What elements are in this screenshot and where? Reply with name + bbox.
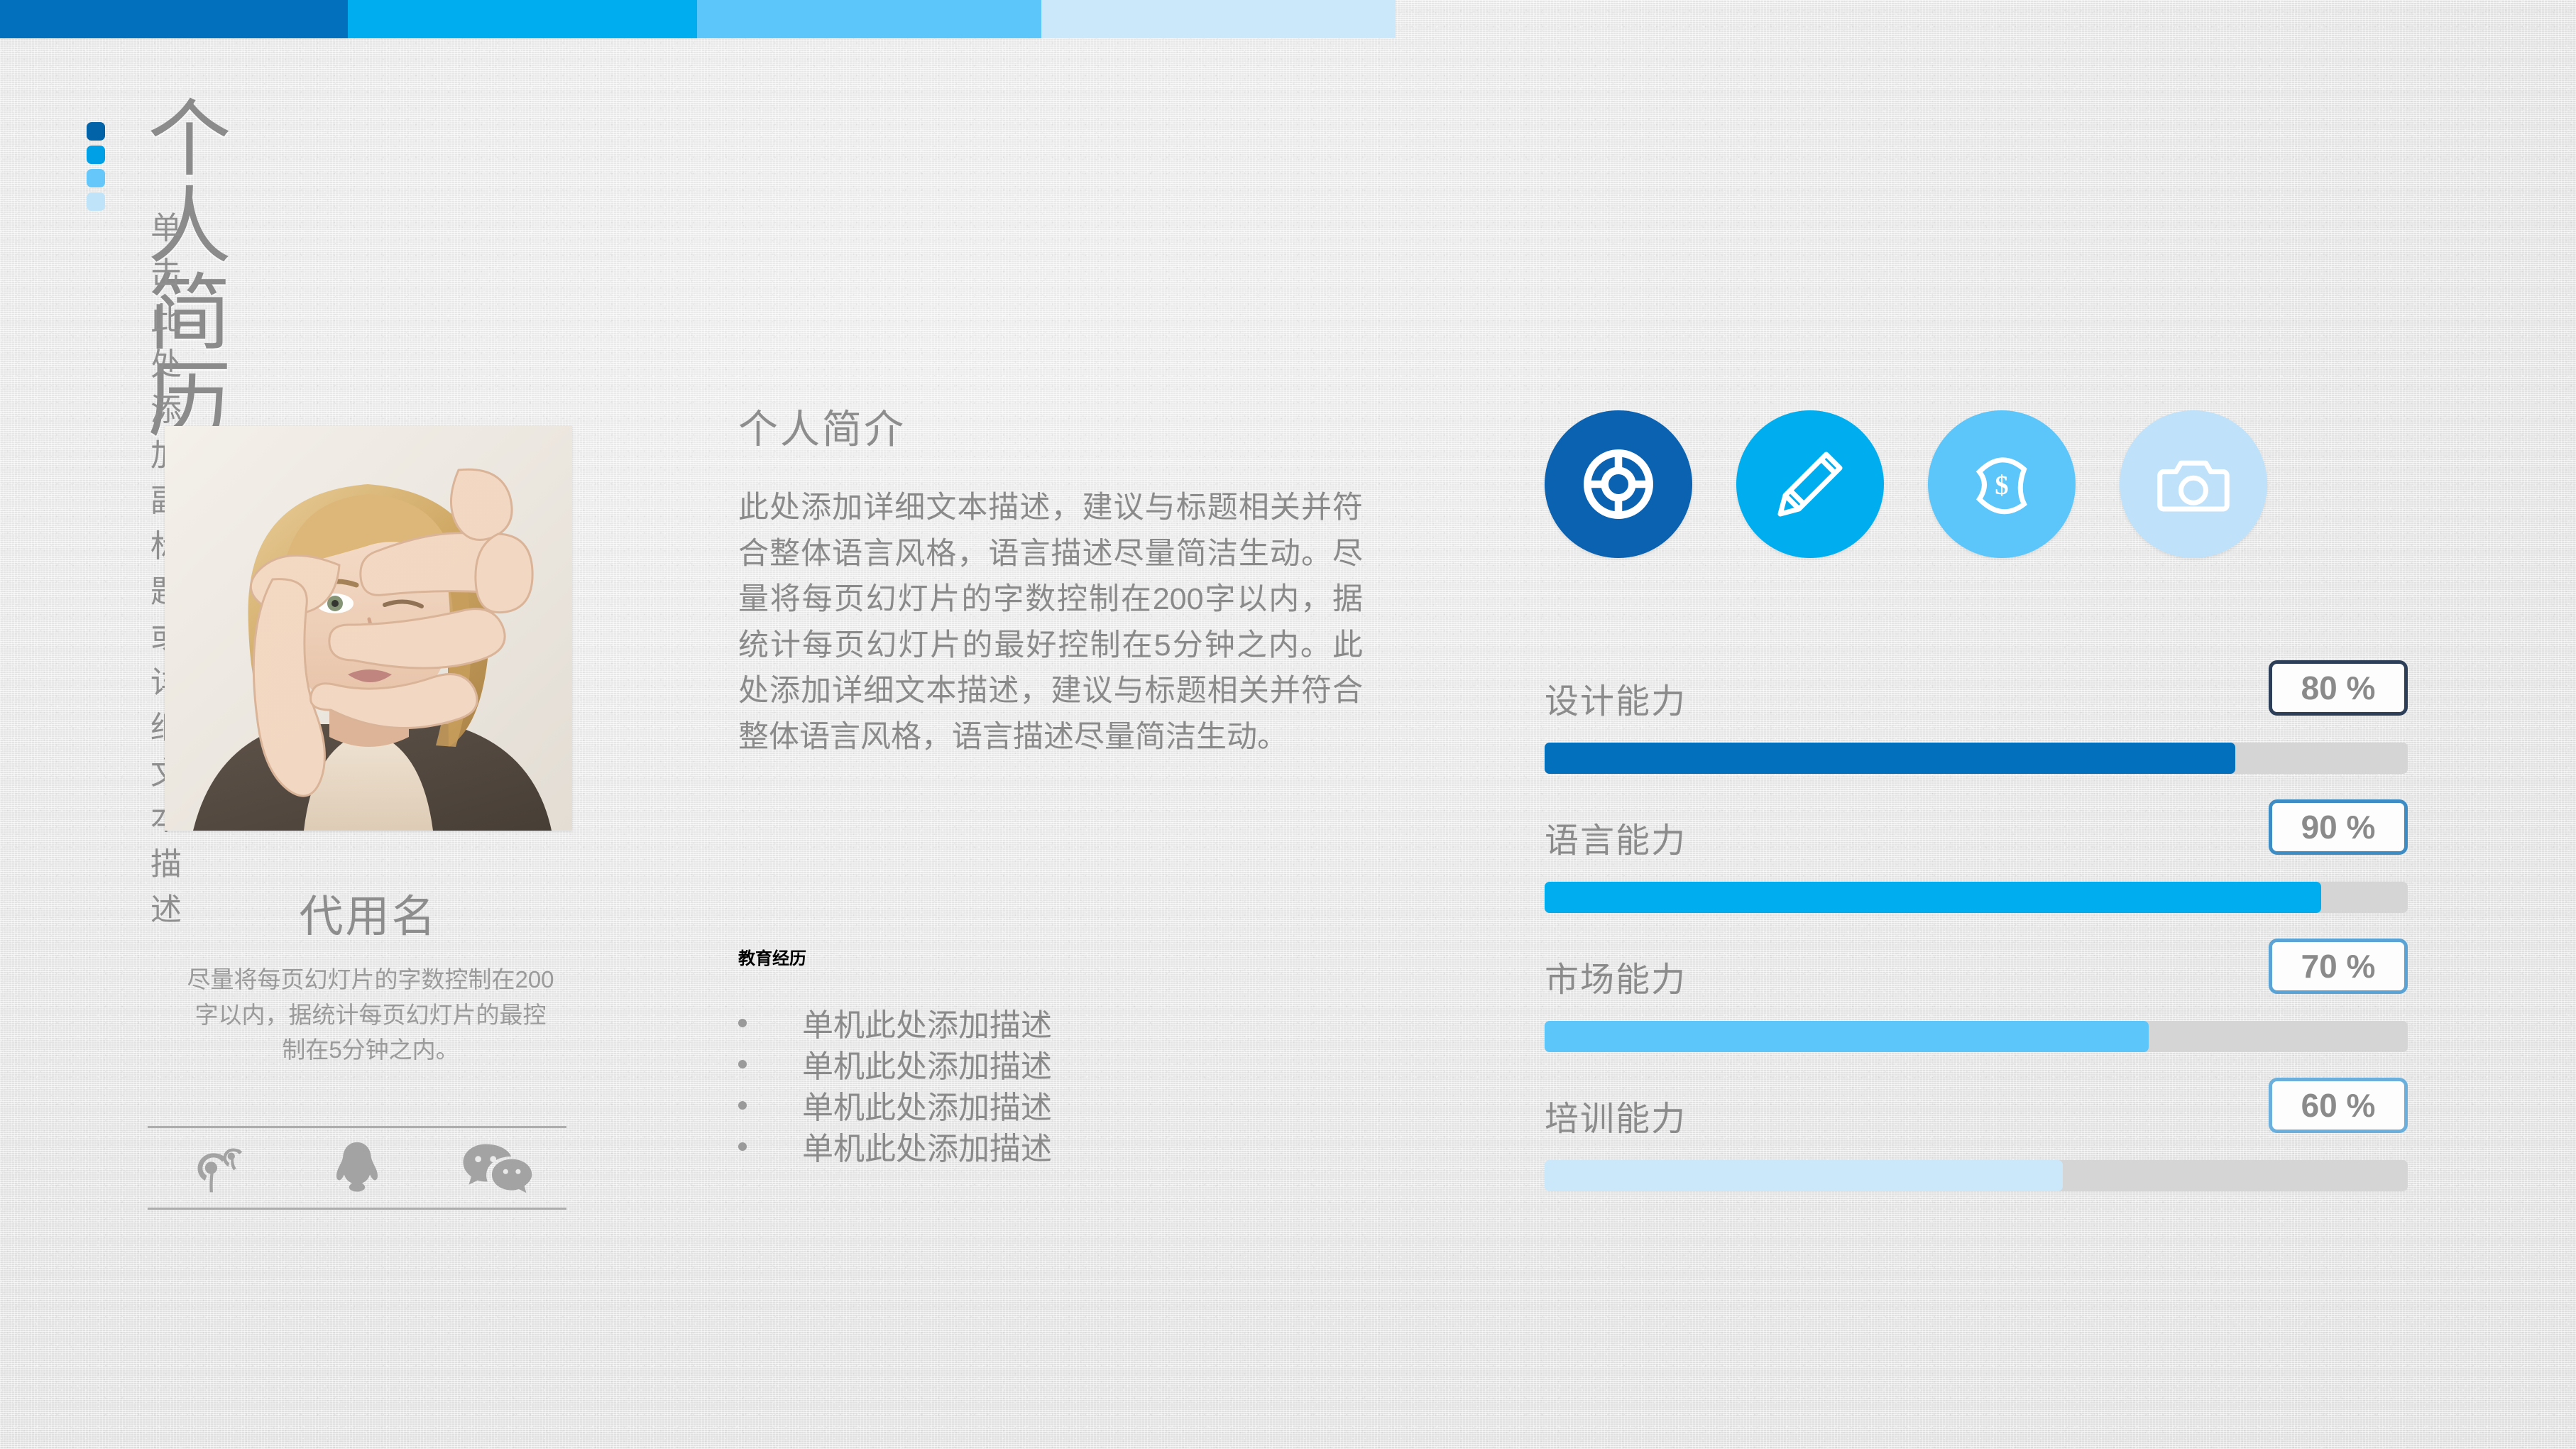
- skill-percent-badge: 80 %: [2269, 660, 2408, 716]
- bullet-icon: [738, 1142, 747, 1151]
- category-icon-row: $: [1545, 410, 2408, 558]
- slide-canvas: 个人简历 单击此处添加副标题或详细文本描述: [0, 0, 2576, 1449]
- about-section: 个人简介 此处添加详细文本描述，建议与标题相关并符合整体语言风格，语言描述尽量简…: [738, 398, 1377, 760]
- skill-bar-list: 设计能力80 %语言能力90 %市场能力70 %培训能力60 %: [1545, 657, 2408, 1214]
- education-item-label: 单机此处添加描述: [802, 1131, 1052, 1168]
- skill-progress-track[interactable]: [1545, 743, 2408, 774]
- wechat-icon[interactable]: [454, 1137, 539, 1199]
- skill-row: 市场能力70 %: [1545, 936, 2408, 1075]
- education-item-label: 单机此处添加描述: [802, 1049, 1052, 1086]
- bullet-icon: [738, 1060, 747, 1068]
- skill-row: 语言能力90 %: [1545, 797, 2408, 936]
- education-item-label: 单机此处添加描述: [802, 1090, 1052, 1127]
- about-body-text: 此处添加详细文本描述，建议与标题相关并符合整体语言风格，语言描述尽量简洁生动。尽…: [738, 485, 1363, 760]
- bullet-icon: [738, 1019, 747, 1027]
- education-list-item: 单机此处添加描述: [738, 1131, 1377, 1168]
- profile-description: 尽量将每页幻灯片的字数控制在200字以内，据统计每页幻灯片的最控制在5分钟之内。: [186, 962, 555, 1068]
- skill-label: 培训能力: [1545, 1090, 1687, 1140]
- skill-label: 市场能力: [1545, 951, 1687, 1001]
- education-heading: 教育经历: [738, 944, 1377, 969]
- skill-row: 培训能力60 %: [1545, 1075, 2408, 1214]
- top-bar-bar-bright-blue: [348, 0, 697, 38]
- education-list: 单机此处添加描述单机此处添加描述单机此处添加描述单机此处添加描述: [738, 1007, 1377, 1168]
- top-bar-bar-pale-blue: [1041, 0, 1396, 38]
- skill-row: 设计能力80 %: [1545, 657, 2408, 797]
- weibo-icon[interactable]: [175, 1137, 260, 1199]
- icon-circle-money[interactable]: $: [1928, 410, 2076, 558]
- skill-progress-fill: [1545, 1021, 2149, 1052]
- skill-percent-badge: 70 %: [2269, 939, 2408, 994]
- profile-name: 代用名: [165, 880, 572, 944]
- skill-progress-fill: [1545, 882, 2321, 913]
- education-section: 教育经历 单机此处添加描述单机此处添加描述单机此处添加描述单机此处添加描述: [738, 944, 1377, 1172]
- icon-circle-lifebuoy[interactable]: [1545, 410, 1692, 558]
- social-icon-bar: [148, 1126, 566, 1210]
- skill-percent-badge: 90 %: [2269, 799, 2408, 855]
- skill-progress-track[interactable]: [1545, 882, 2408, 913]
- skill-progress-track[interactable]: [1545, 1021, 2408, 1052]
- skills-panel: $ 设计能力80 %语言能力90 %市场能力70 %培训能力60 %: [1545, 410, 2408, 1214]
- svg-text:$: $: [1995, 471, 2008, 501]
- accent-dot-2: [87, 146, 105, 164]
- skill-percent-badge: 60 %: [2269, 1078, 2408, 1133]
- accent-dots-decoration: [87, 122, 105, 211]
- accent-dot-1: [87, 122, 105, 141]
- education-item-label: 单机此处添加描述: [802, 1007, 1052, 1044]
- profile-photo: [165, 426, 572, 831]
- skill-progress-fill: [1545, 743, 2235, 774]
- accent-dot-3: [87, 169, 105, 187]
- skill-label: 语言能力: [1545, 812, 1687, 862]
- skill-progress-fill: [1545, 1160, 2063, 1191]
- top-bar-bar-light-blue: [697, 0, 1041, 38]
- education-list-item: 单机此处添加描述: [738, 1007, 1377, 1044]
- skill-progress-track[interactable]: [1545, 1160, 2408, 1191]
- skill-label: 设计能力: [1545, 673, 1687, 723]
- top-color-bar-strip: [0, 0, 1396, 38]
- icon-circle-camera[interactable]: [2120, 410, 2267, 558]
- icon-circle-pencil[interactable]: [1736, 410, 1884, 558]
- education-list-item: 单机此处添加描述: [738, 1090, 1377, 1127]
- education-list-item: 单机此处添加描述: [738, 1049, 1377, 1086]
- accent-dot-4: [87, 192, 105, 211]
- top-bar-bar-dark-blue: [0, 0, 348, 38]
- bullet-icon: [738, 1101, 747, 1110]
- qq-icon[interactable]: [314, 1137, 400, 1199]
- about-heading: 个人简介: [738, 398, 1377, 455]
